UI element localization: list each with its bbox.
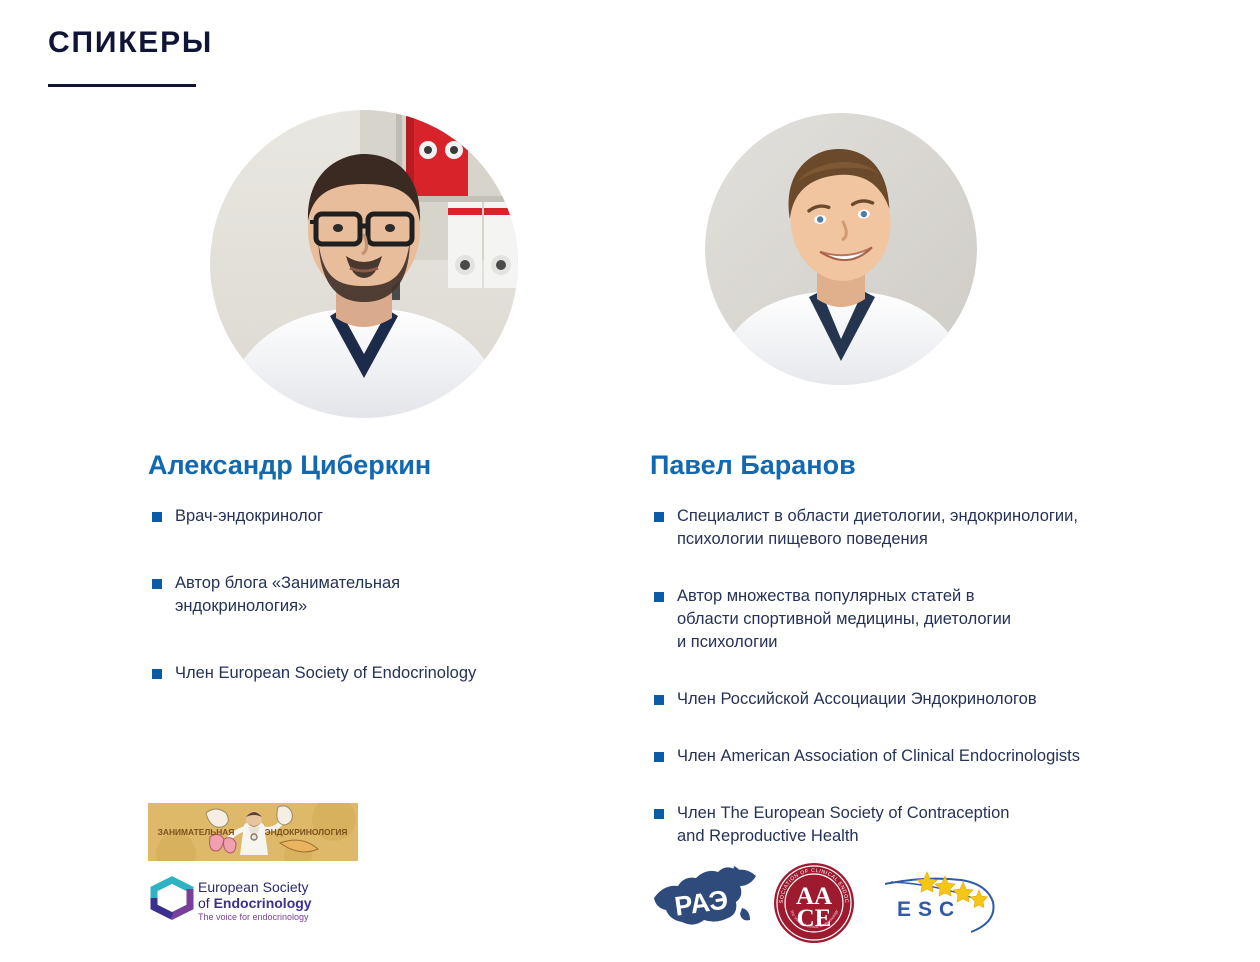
- svg-text:ЗАНИМАТЕЛЬНАЯ: ЗАНИМАТЕЛЬНАЯ: [158, 827, 235, 837]
- list-item: Член Российской Ассоциации Эндокринолого…: [650, 688, 1195, 711]
- list-item: Член The European Society of Contracepti…: [650, 802, 1195, 848]
- european-society-of-endocrinology-logo: European Society of Endocrinology The vo…: [150, 876, 322, 926]
- svg-text:The voice for endocrinology: The voice for endocrinology: [198, 912, 309, 922]
- esc-logo: ESC: [883, 868, 1001, 938]
- speaker-1-credentials-list: Врач-эндокринолог Автор блога «Занимател…: [148, 505, 618, 685]
- zanimatelnaya-endokrinologiya-banner-logo: ЗАНИМАТЕЛЬНАЯ ЭНДОКРИНОЛОГИЯ: [148, 803, 358, 861]
- bullet-square-icon: [654, 809, 664, 819]
- bullet-square-icon: [654, 592, 664, 602]
- speaker-name-1: Александр Циберкин: [148, 452, 431, 479]
- speaker-2-affiliation-logos: РАЭ AMERICAN ASSOCIATION OF CLINICAL END…: [650, 862, 1010, 942]
- page-title: СПИКЕРЫ: [48, 28, 213, 58]
- list-item: Автор блога «Занимательная эндокринологи…: [148, 572, 618, 618]
- bullet-square-icon: [654, 512, 664, 522]
- bullet-square-icon: [654, 695, 664, 705]
- list-item: Член European Society of Endocrinology: [148, 662, 618, 685]
- list-item: Врач-эндокринолог: [148, 505, 618, 528]
- svg-text:European Society: European Society: [198, 879, 309, 895]
- bullet-square-icon: [152, 669, 162, 679]
- aace-logo: AMERICAN ASSOCIATION OF CLINICAL ENDOCRI…: [773, 862, 855, 944]
- bullet-square-icon: [152, 512, 162, 522]
- list-item: Специалист в области диетологии, эндокри…: [650, 505, 1195, 551]
- list-item: Член American Association of Clinical En…: [650, 745, 1195, 768]
- svg-text:CE: CE: [797, 905, 832, 932]
- bullet-square-icon: [654, 752, 664, 762]
- speaker-photo-baranov: [705, 113, 977, 385]
- svg-text:ESC: ESC: [897, 898, 961, 921]
- list-item: Автор множества популярных статей в обла…: [650, 585, 1195, 654]
- speaker-2-credentials-list: Специалист в области диетологии, эндокри…: [650, 505, 1195, 848]
- rae-logo: РАЭ: [650, 864, 762, 938]
- svg-text:ЭНДОКРИНОЛОГИЯ: ЭНДОКРИНОЛОГИЯ: [265, 827, 348, 837]
- title-underline-rule: [48, 84, 196, 87]
- speaker-photo-tsiberkin: [210, 110, 518, 418]
- svg-text:of Endocrinology: of Endocrinology: [198, 895, 312, 911]
- bullet-square-icon: [152, 579, 162, 589]
- speaker-name-2: Павел Баранов: [650, 452, 856, 479]
